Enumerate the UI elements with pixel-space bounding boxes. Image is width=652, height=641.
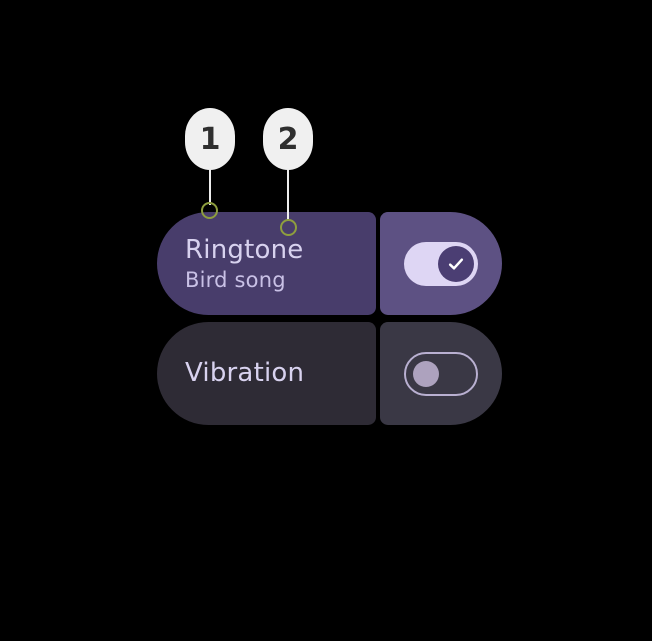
callout-line-2 [287, 168, 289, 221]
ringtone-toggle-tile[interactable] [380, 212, 502, 315]
callout-badge-2[interactable]: 2 [263, 108, 313, 170]
vibration-toggle-tile[interactable] [380, 322, 502, 425]
ringtone-title: Ringtone [185, 235, 376, 266]
vibration-switch[interactable] [404, 352, 478, 396]
vibration-title: Vibration [185, 358, 376, 389]
callout-marker-1 [201, 202, 218, 219]
vibration-tile[interactable]: Vibration [157, 322, 376, 425]
screen-background: Ringtone Bird song Vibration [0, 0, 652, 641]
vibration-switch-thumb [413, 361, 439, 387]
callout-marker-2 [280, 219, 297, 236]
check-icon [446, 254, 466, 274]
callout-badge-1[interactable]: 1 [185, 108, 235, 170]
settings-tile-grid: Ringtone Bird song Vibration [157, 212, 502, 429]
settings-row-vibration: Vibration [157, 322, 502, 425]
ringtone-switch-thumb [438, 246, 474, 282]
ringtone-tile[interactable]: Ringtone Bird song [157, 212, 376, 315]
callout-line-1 [209, 168, 211, 205]
ringtone-switch[interactable] [404, 242, 478, 286]
settings-row-ringtone: Ringtone Bird song [157, 212, 502, 315]
ringtone-subtitle: Bird song [185, 267, 376, 293]
